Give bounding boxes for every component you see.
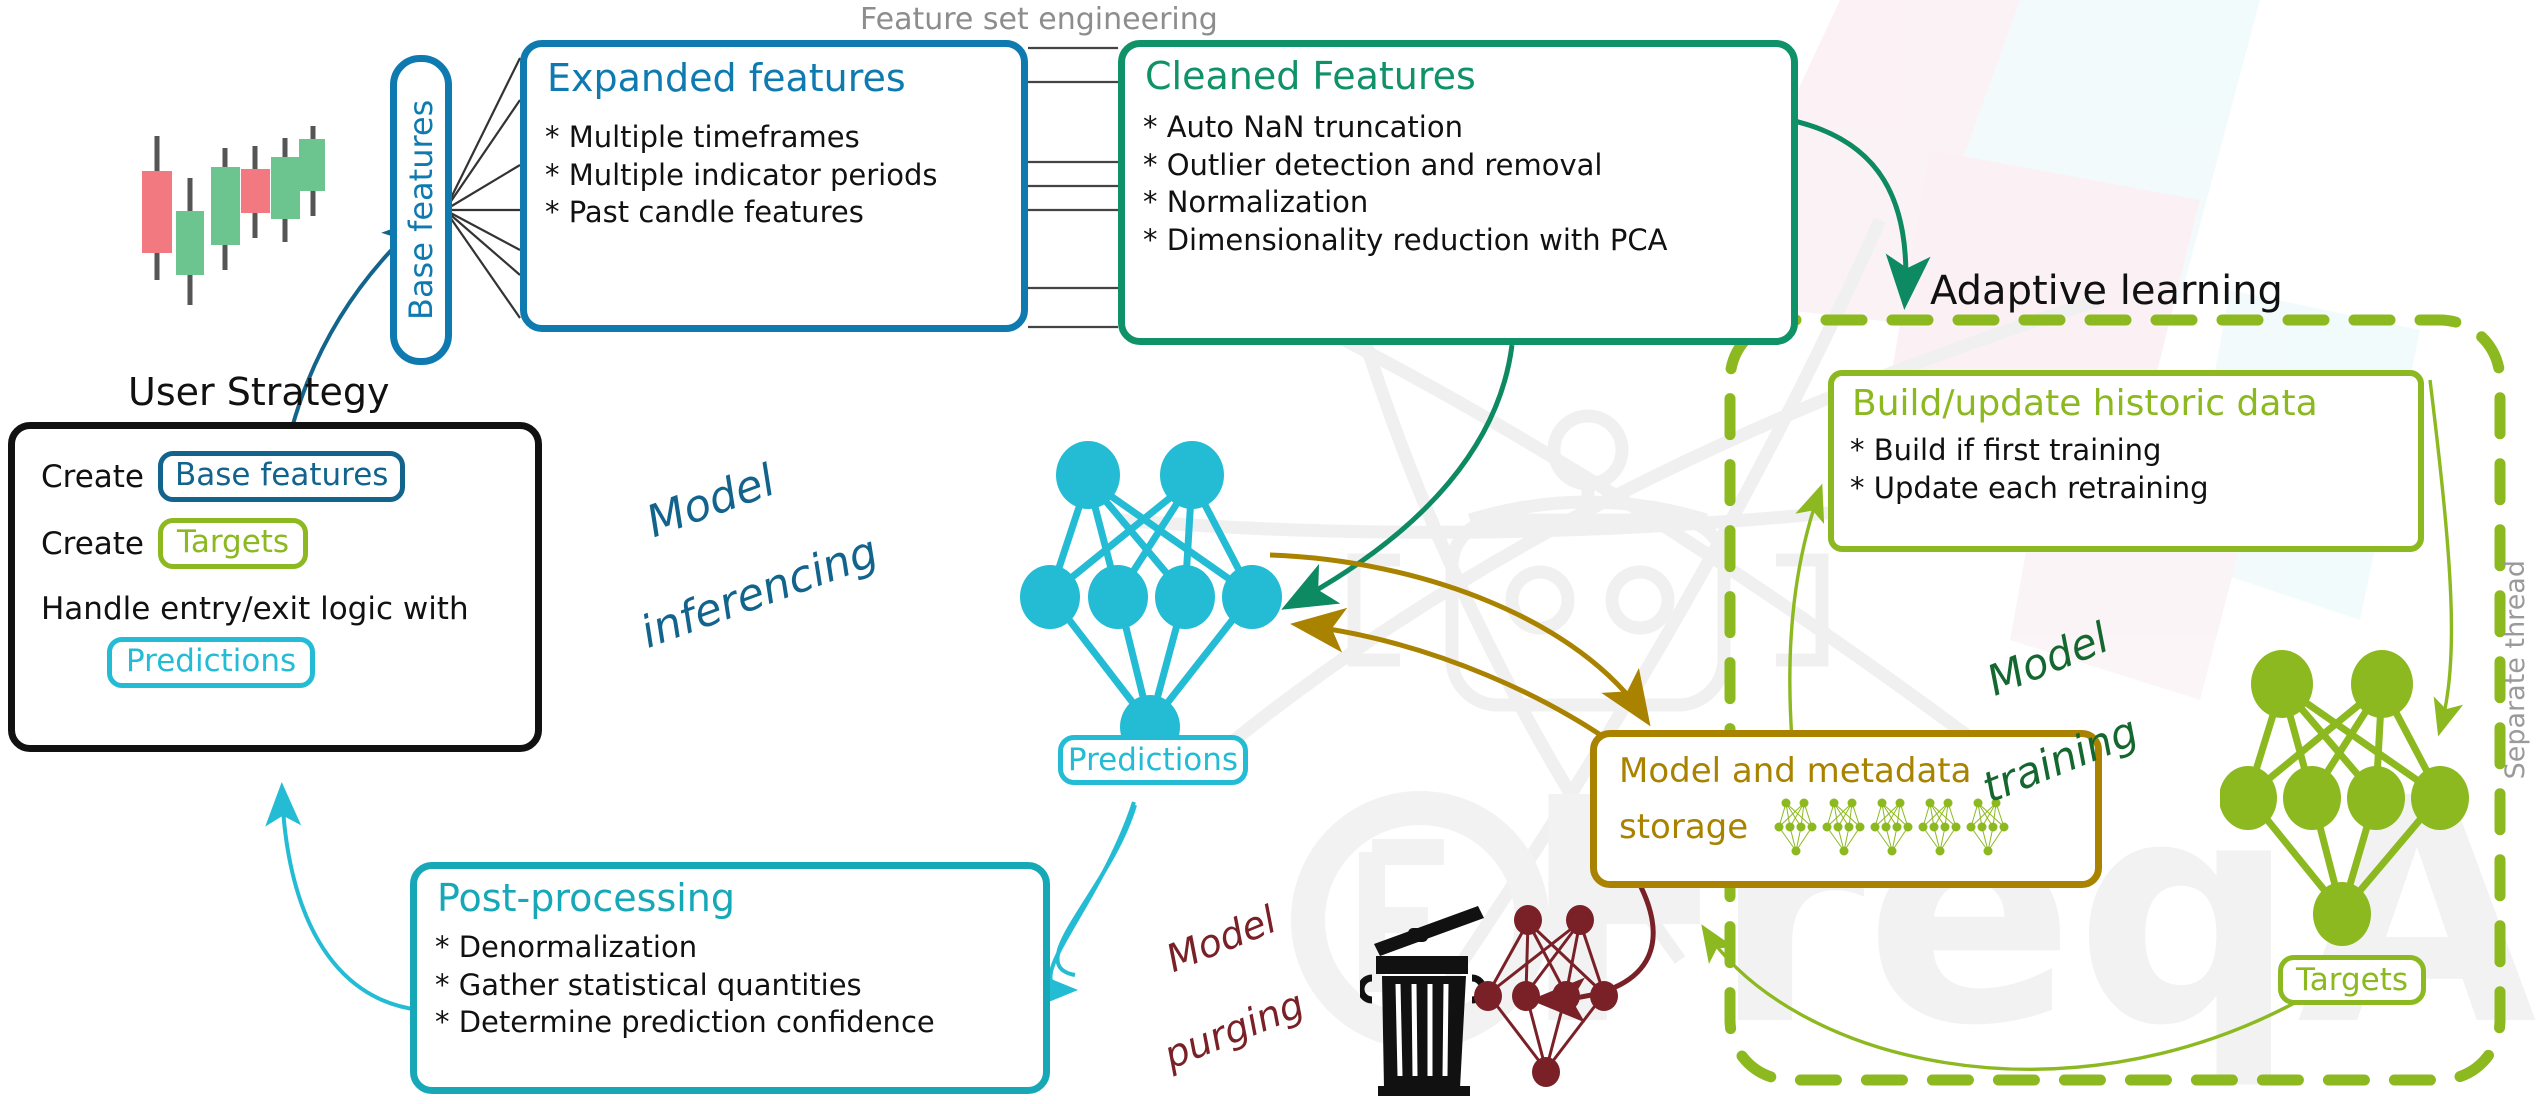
cleaned-features-item: * Normalization [1143, 184, 1791, 222]
expanded-features-item: * Multiple timeframes [545, 119, 1021, 157]
cleaned-features-title: Cleaned Features [1145, 57, 1791, 95]
training-neural-net [2220, 640, 2490, 980]
feature-set-engineering-label: Feature set engineering [860, 2, 1218, 37]
user-strategy-box: Create Base features Create Targets Hand… [8, 422, 542, 752]
purged-model-neural-net [1470, 900, 1640, 1100]
predictions-pill: Predictions [1058, 735, 1248, 785]
post-processing-item: * Gather statistical quantities [435, 967, 1043, 1005]
expanded-features-title: Expanded features [547, 59, 1021, 97]
cleaned-features-box: Cleaned Features * Auto NaN truncation *… [1118, 40, 1798, 345]
model-training-label: Model training [1980, 660, 2143, 758]
adaptive-learning-title: Adaptive learning [1930, 268, 2283, 314]
post-processing-box: Post-processing * Denormalization * Gath… [410, 862, 1050, 1094]
expanded-features-box: Expanded features * Multiple timeframes … [520, 40, 1028, 332]
targets-inline-pill: Targets [158, 518, 308, 569]
post-processing-item: * Determine prediction confidence [435, 1004, 1043, 1042]
base-features-pill: Base features [390, 55, 452, 365]
predictions-inline-pill: Predictions [107, 637, 315, 688]
cleaned-features-item: * Outlier detection and removal [1143, 147, 1791, 185]
model-inferencing-label: Model inferencing [640, 500, 888, 602]
candlestick-chart [135, 120, 325, 320]
build-update-box: Build/update historic data * Build if fi… [1828, 370, 2424, 552]
post-processing-item: * Denormalization [435, 929, 1043, 967]
expanded-features-item: * Multiple indicator periods [545, 157, 1021, 195]
model-storage-line2: storage [1619, 807, 1748, 847]
cleaned-features-item: * Dimensionality reduction with PCA [1143, 222, 1791, 260]
build-update-item: * Build if first training [1850, 432, 2418, 470]
targets-pill: Targets [2278, 955, 2426, 1005]
predictions-pill-label: Predictions [1068, 742, 1238, 778]
build-update-title: Build/update historic data [1852, 386, 2418, 422]
diagram-canvas: FreqAI [0, 0, 2539, 1104]
entry-exit-logic-label: Handle entry/exit logic with [41, 591, 535, 627]
expanded-features-item: * Past candle features [545, 194, 1021, 232]
user-strategy-title: User Strategy [128, 370, 390, 414]
base-features-inline-pill: Base features [158, 451, 405, 502]
create-base-features-label: Create [41, 459, 144, 495]
post-processing-title: Post-processing [437, 879, 1043, 917]
build-update-item: * Update each retraining [1850, 470, 2418, 508]
base-features-label: Base features [397, 62, 445, 358]
targets-pill-label: Targets [2296, 962, 2408, 998]
stored-models-icon [1774, 797, 2024, 857]
separate-thread-label: Separate thread [2500, 560, 2531, 779]
model-purging-label: Model purging [1160, 940, 1307, 1028]
create-targets-label: Create [41, 526, 144, 562]
cleaned-features-item: * Auto NaN truncation [1143, 109, 1791, 147]
